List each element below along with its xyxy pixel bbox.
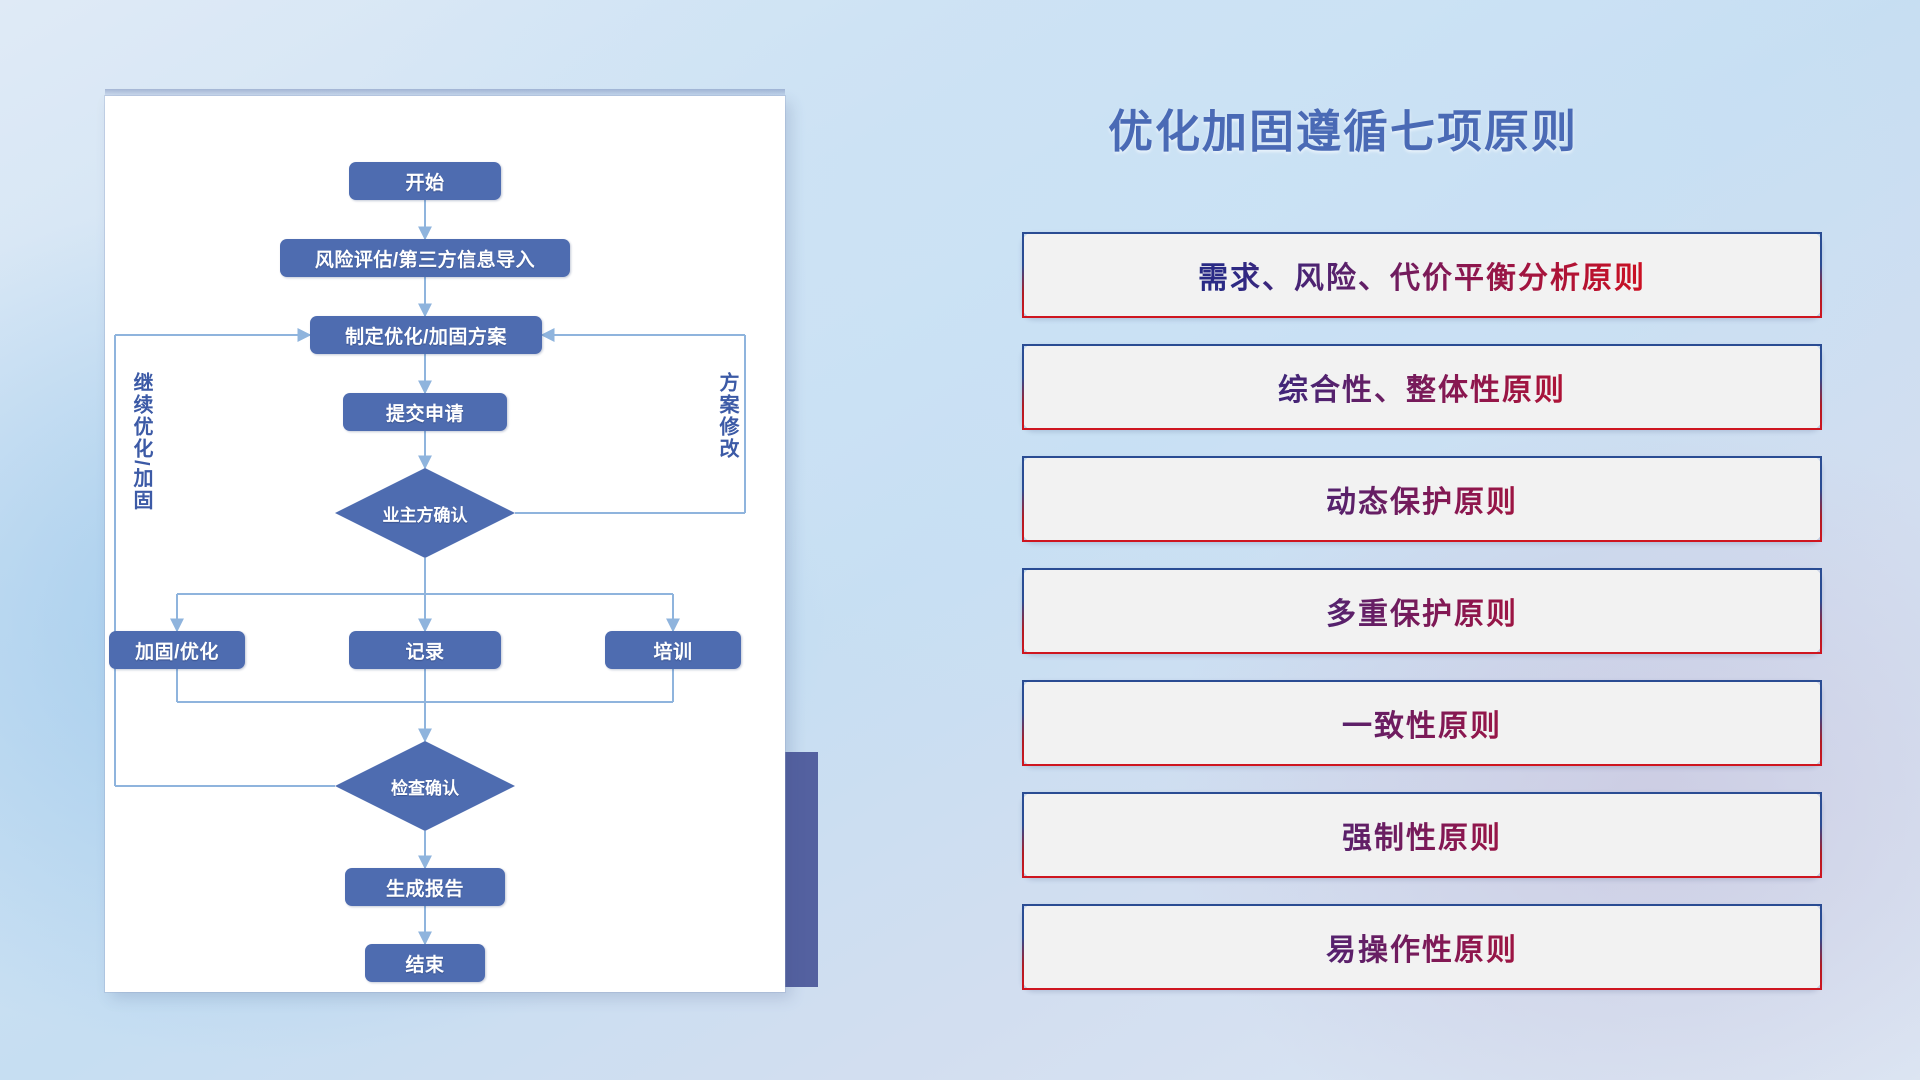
flow-node-reinforce[interactable]: 加固/优化 [109, 631, 245, 669]
flow-node-record-label: 记录 [405, 637, 444, 664]
flow-node-record[interactable]: 记录 [349, 631, 501, 669]
flow-node-reinforce-label: 加固/优化 [135, 637, 219, 664]
flow-edge-label-continue-optimize: 继续优化/加固 [127, 372, 156, 512]
principle-card-1[interactable]: 需求、风险、代价平衡分析原则 [1022, 232, 1822, 318]
principles-list: 需求、风险、代价平衡分析原则 综合性、整体性原则 动态保护原则 多重保护原则 一… [1022, 232, 1822, 1016]
flow-node-start[interactable]: 开始 [349, 162, 501, 200]
flow-node-report-label: 生成报告 [386, 874, 464, 901]
flow-node-submit-label: 提交申请 [386, 399, 464, 426]
flow-node-submit[interactable]: 提交申请 [343, 393, 507, 431]
flow-node-risk-assessment[interactable]: 风险评估/第三方信息导入 [280, 239, 570, 277]
principle-card-label: 综合性、整体性原则 [1022, 344, 1822, 430]
flow-decision-owner-confirm-label: 业主方确认 [383, 501, 468, 526]
flowchart-panel: 开始 风险评估/第三方信息导入 制定优化/加固方案 提交申请 业主方确认 加固/… [105, 96, 785, 992]
principle-card-label: 多重保护原则 [1022, 568, 1822, 654]
flow-edge-label-plan-revise-text: 方案修改 [716, 372, 738, 460]
flow-decision-owner-confirm[interactable]: 业主方确认 [335, 468, 515, 558]
principle-card-label: 易操作性原则 [1022, 904, 1822, 990]
principle-card-label: 一致性原则 [1022, 680, 1822, 766]
principle-card-label: 需求、风险、代价平衡分析原则 [1022, 232, 1822, 318]
flow-edge-label-plan-revise: 方案修改 [713, 372, 742, 460]
principle-card-2[interactable]: 综合性、整体性原则 [1022, 344, 1822, 430]
principle-card-3[interactable]: 动态保护原则 [1022, 456, 1822, 542]
flow-decision-check-confirm[interactable]: 检查确认 [335, 741, 515, 831]
flow-node-risk-assessment-label: 风险评估/第三方信息导入 [315, 245, 535, 272]
principle-card-7[interactable]: 易操作性原则 [1022, 904, 1822, 990]
flow-node-training[interactable]: 培训 [605, 631, 741, 669]
flow-edge-label-continue-optimize-text: 继续优化/加固 [130, 372, 152, 512]
page-title: 优化加固遵循七项原则 [1108, 95, 1708, 160]
principle-card-4[interactable]: 多重保护原则 [1022, 568, 1822, 654]
flow-node-end-label: 结束 [405, 950, 444, 977]
principle-card-label: 动态保护原则 [1022, 456, 1822, 542]
principle-card-6[interactable]: 强制性原则 [1022, 792, 1822, 878]
flow-decision-check-confirm-label: 检查确认 [391, 774, 459, 799]
flow-node-report[interactable]: 生成报告 [345, 868, 505, 906]
flow-node-end[interactable]: 结束 [365, 944, 485, 982]
principle-card-label: 强制性原则 [1022, 792, 1822, 878]
flow-node-training-label: 培训 [653, 637, 692, 664]
flow-node-plan[interactable]: 制定优化/加固方案 [310, 316, 542, 354]
slide-canvas: 开始 风险评估/第三方信息导入 制定优化/加固方案 提交申请 业主方确认 加固/… [0, 0, 1920, 1080]
flow-node-plan-label: 制定优化/加固方案 [345, 322, 507, 349]
flow-node-start-label: 开始 [405, 168, 444, 195]
principle-card-5[interactable]: 一致性原则 [1022, 680, 1822, 766]
